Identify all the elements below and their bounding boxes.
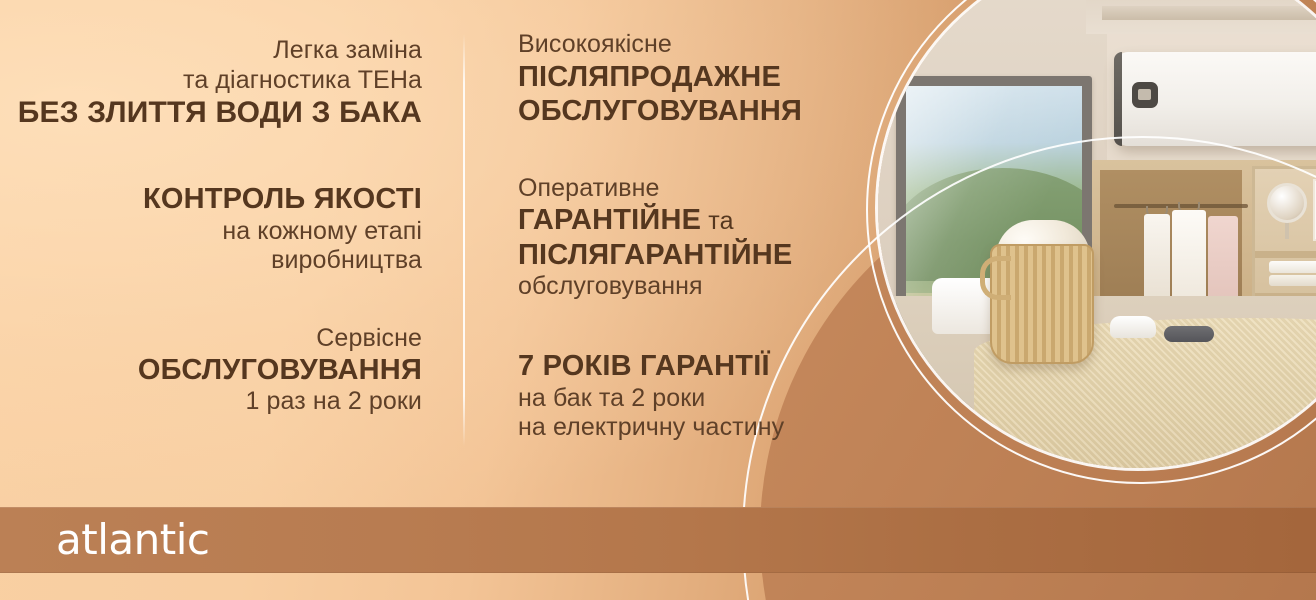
- feature-headline: ПІСЛЯПРОДАЖНЕ: [518, 60, 878, 94]
- shoes: [1110, 316, 1156, 338]
- room-scene: [878, 0, 1316, 468]
- feature-headline-suffix: та: [701, 207, 734, 235]
- feature-line: Легка заміна: [0, 36, 422, 66]
- feature-block-quality-control: КОНТРОЛЬ ЯКОСТІ на кожному етапі виробни…: [0, 182, 422, 275]
- feature-headline: ГАРАНТІЙНЕ та: [518, 203, 878, 237]
- feature-line: та діагностика ТЕНа: [0, 66, 422, 96]
- feature-headline: ОБСЛУГОВУВАННЯ: [518, 94, 878, 128]
- folded-towel: [1269, 275, 1316, 286]
- feature-block-easy-replacement: Легка заміна та діагностика ТЕНа БЕЗ ЗЛИ…: [0, 36, 422, 130]
- sandals: [1164, 326, 1214, 342]
- feature-line: обслуговування: [518, 272, 878, 302]
- feature-block-aftersales: Високоякісне ПІСЛЯПРОДАЖНЕ ОБСЛУГОВУВАНН…: [518, 30, 878, 128]
- folded-towel: [1269, 261, 1316, 273]
- feature-line: на бак та 2 роки: [518, 384, 878, 414]
- product-photo-circle: [878, 0, 1316, 468]
- heater-left-cap: [1114, 52, 1122, 146]
- water-heater-unit: [1116, 52, 1316, 146]
- mirror-stand: [1285, 223, 1289, 239]
- brand-footer-bar: atlantic: [0, 507, 1316, 573]
- shelf-divider: [1255, 251, 1316, 258]
- feature-headline: ОБСЛУГОВУВАННЯ: [0, 353, 422, 387]
- right-feature-column: Високоякісне ПІСЛЯПРОДАЖНЕ ОБСЛУГОВУВАНН…: [518, 0, 878, 443]
- feature-headline-main: ГАРАНТІЙНЕ: [518, 204, 701, 236]
- feature-headline: БЕЗ ЗЛИТТЯ ВОДИ З БАКА: [0, 95, 422, 130]
- feature-line: на кожному етапі: [0, 217, 422, 247]
- column-divider: [463, 34, 465, 446]
- product-photo: [878, 0, 1316, 468]
- left-feature-column: Легка заміна та діагностика ТЕНа БЕЗ ЗЛИ…: [0, 0, 422, 417]
- feature-line: Оперативне: [518, 174, 878, 204]
- atlantic-logo: atlantic: [56, 519, 209, 561]
- round-mirror: [1267, 183, 1307, 223]
- feature-block-warranty-service: Оперативне ГАРАНТІЙНЕ та ПІСЛЯГАРАНТІЙНЕ…: [518, 174, 878, 301]
- feature-headline: КОНТРОЛЬ ЯКОСТІ: [0, 182, 422, 216]
- text-content: Легка заміна та діагностика ТЕНа БЕЗ ЗЛИ…: [0, 0, 900, 490]
- feature-headline: ПІСЛЯГАРАНТІЙНЕ: [518, 238, 878, 272]
- feature-block-guarantee: 7 РОКІВ ГАРАНТІЇ на бак та 2 роки на еле…: [518, 349, 878, 442]
- hanging-garment: [1144, 214, 1170, 306]
- feature-line: 1 раз на 2 роки: [0, 387, 422, 417]
- upper-shelf: [1102, 6, 1316, 20]
- promo-banner: Легка заміна та діагностика ТЕНа БЕЗ ЗЛИ…: [0, 0, 1316, 600]
- feature-block-service: Сервісне ОБСЛУГОВУВАННЯ 1 раз на 2 роки: [0, 324, 422, 417]
- heater-control-panel-icon: [1132, 82, 1158, 108]
- wicker-laundry-basket: [990, 244, 1094, 364]
- feature-line: виробництва: [0, 246, 422, 276]
- feature-line: Високоякісне: [518, 30, 878, 60]
- feature-headline: 7 РОКІВ ГАРАНТІЇ: [518, 349, 878, 383]
- feature-line: на електричну частину: [518, 413, 878, 443]
- feature-line: Сервісне: [0, 324, 422, 354]
